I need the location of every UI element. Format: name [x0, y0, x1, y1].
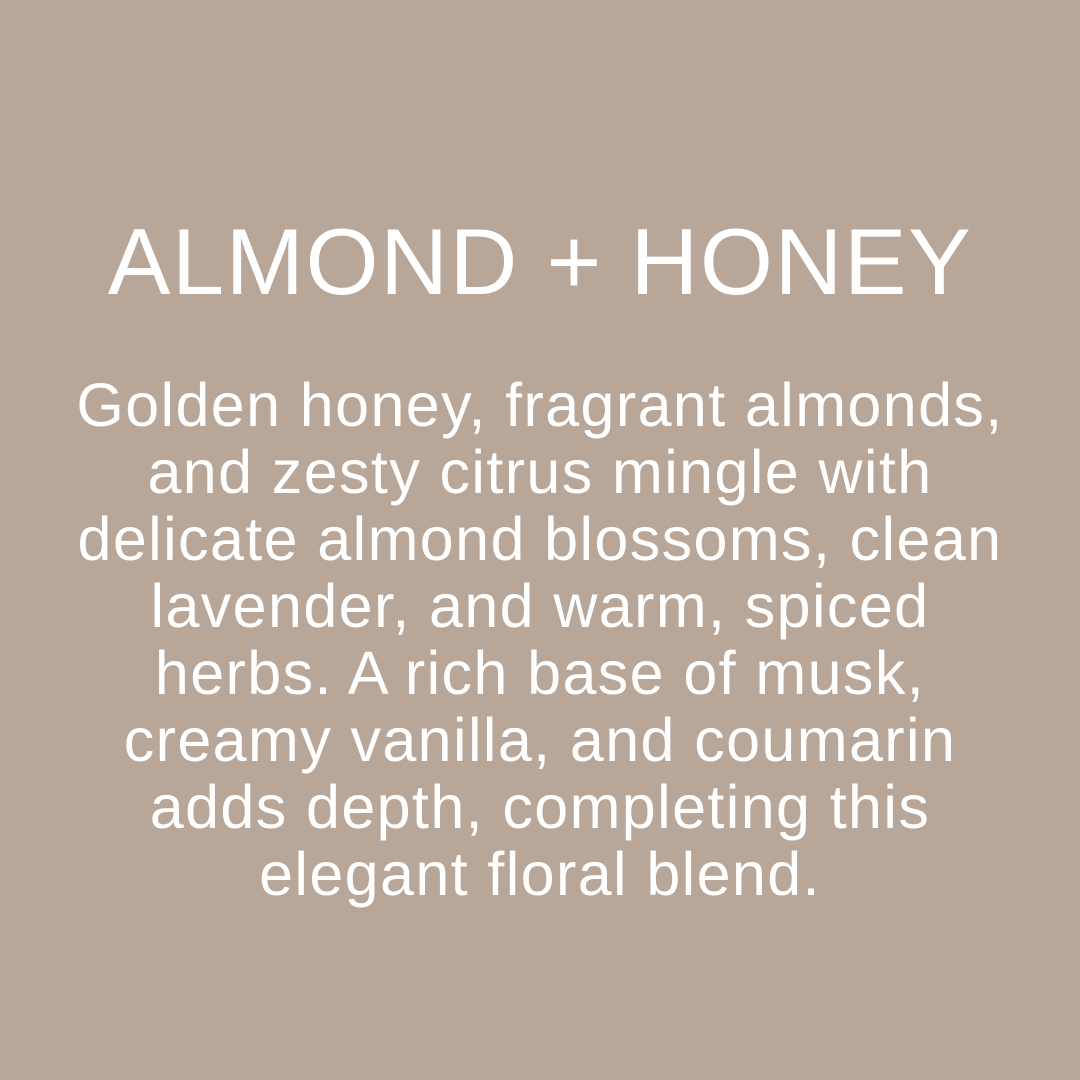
description-line: adds depth, completing this: [45, 774, 1035, 841]
description-line: and zesty citrus mingle with: [45, 439, 1035, 506]
description-line: herbs. A rich base of musk,: [45, 640, 1035, 707]
page-title: ALMOND + HONEY: [0, 214, 1080, 310]
description-line: lavender, and warm, spiced: [45, 573, 1035, 640]
description-line: elegant floral blend.: [45, 841, 1035, 908]
description-line: delicate almond blossoms, clean: [45, 506, 1035, 573]
description-line: Golden honey, fragrant almonds,: [45, 372, 1035, 439]
product-description: Golden honey, fragrant almonds, and zest…: [45, 372, 1035, 908]
description-line: creamy vanilla, and coumarin: [45, 707, 1035, 774]
scent-description-card: ALMOND + HONEY Golden honey, fragrant al…: [0, 0, 1080, 1080]
